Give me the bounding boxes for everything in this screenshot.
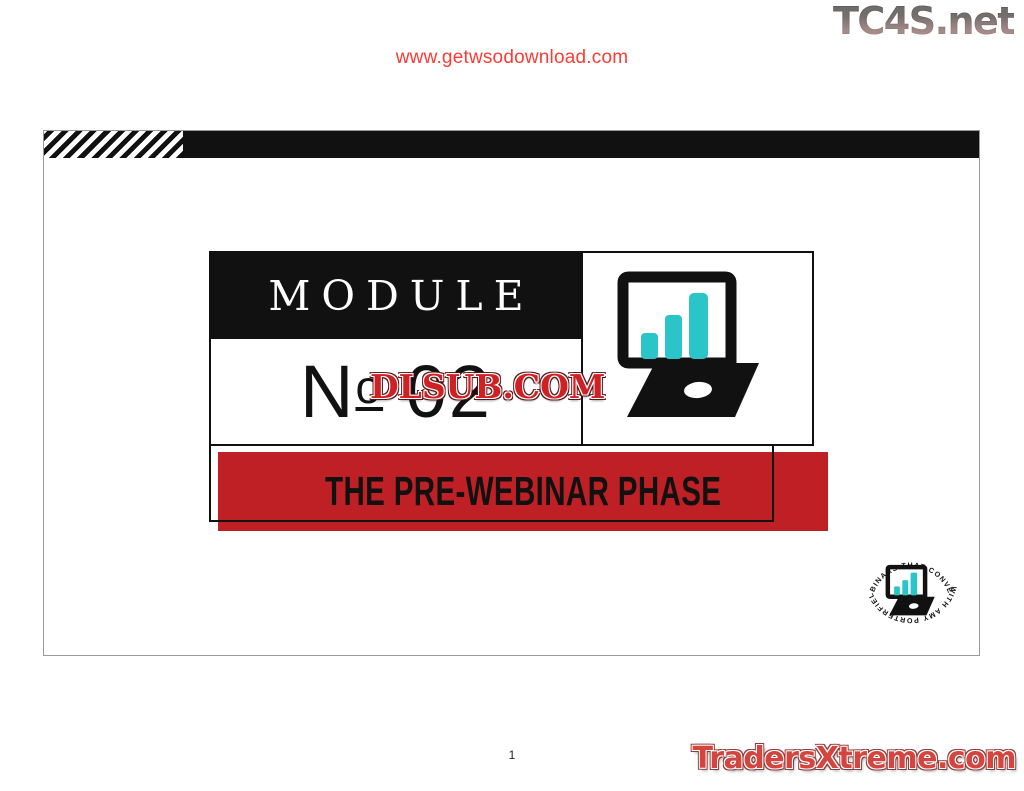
webinars-that-convert-badge: WEBINARS THAT CONVERT WITH AMY PORTERFIE… — [859, 537, 963, 641]
slide-top-bar — [44, 131, 979, 158]
module-number-prefix: N — [300, 350, 355, 433]
module-label: MODULE — [257, 276, 534, 317]
getwsodownload-url-watermark: www.getwsodownload.com — [0, 47, 1024, 69]
black-bar-decoration — [183, 131, 979, 158]
module-label-cell: MODULE — [211, 253, 581, 339]
tc4s-watermark-logo: TC4S.net — [833, 2, 1014, 40]
module-left-column: MODULE No 02 — [211, 253, 581, 444]
dlsub-watermark: DLSUB.COM — [370, 367, 605, 406]
module-title-block: MODULE No 02 — [209, 251, 814, 446]
badge-laptop-bar-chart-icon — [888, 567, 935, 615]
tradersxtreme-watermark-logo: TradersXtreme.com — [693, 744, 1016, 774]
banner-outline-box — [209, 444, 774, 522]
diagonal-stripe-decoration — [44, 131, 183, 158]
module-grid: MODULE No 02 — [209, 251, 814, 446]
laptop-bar-chart-icon — [609, 271, 774, 426]
module-icon-cell — [581, 253, 812, 444]
